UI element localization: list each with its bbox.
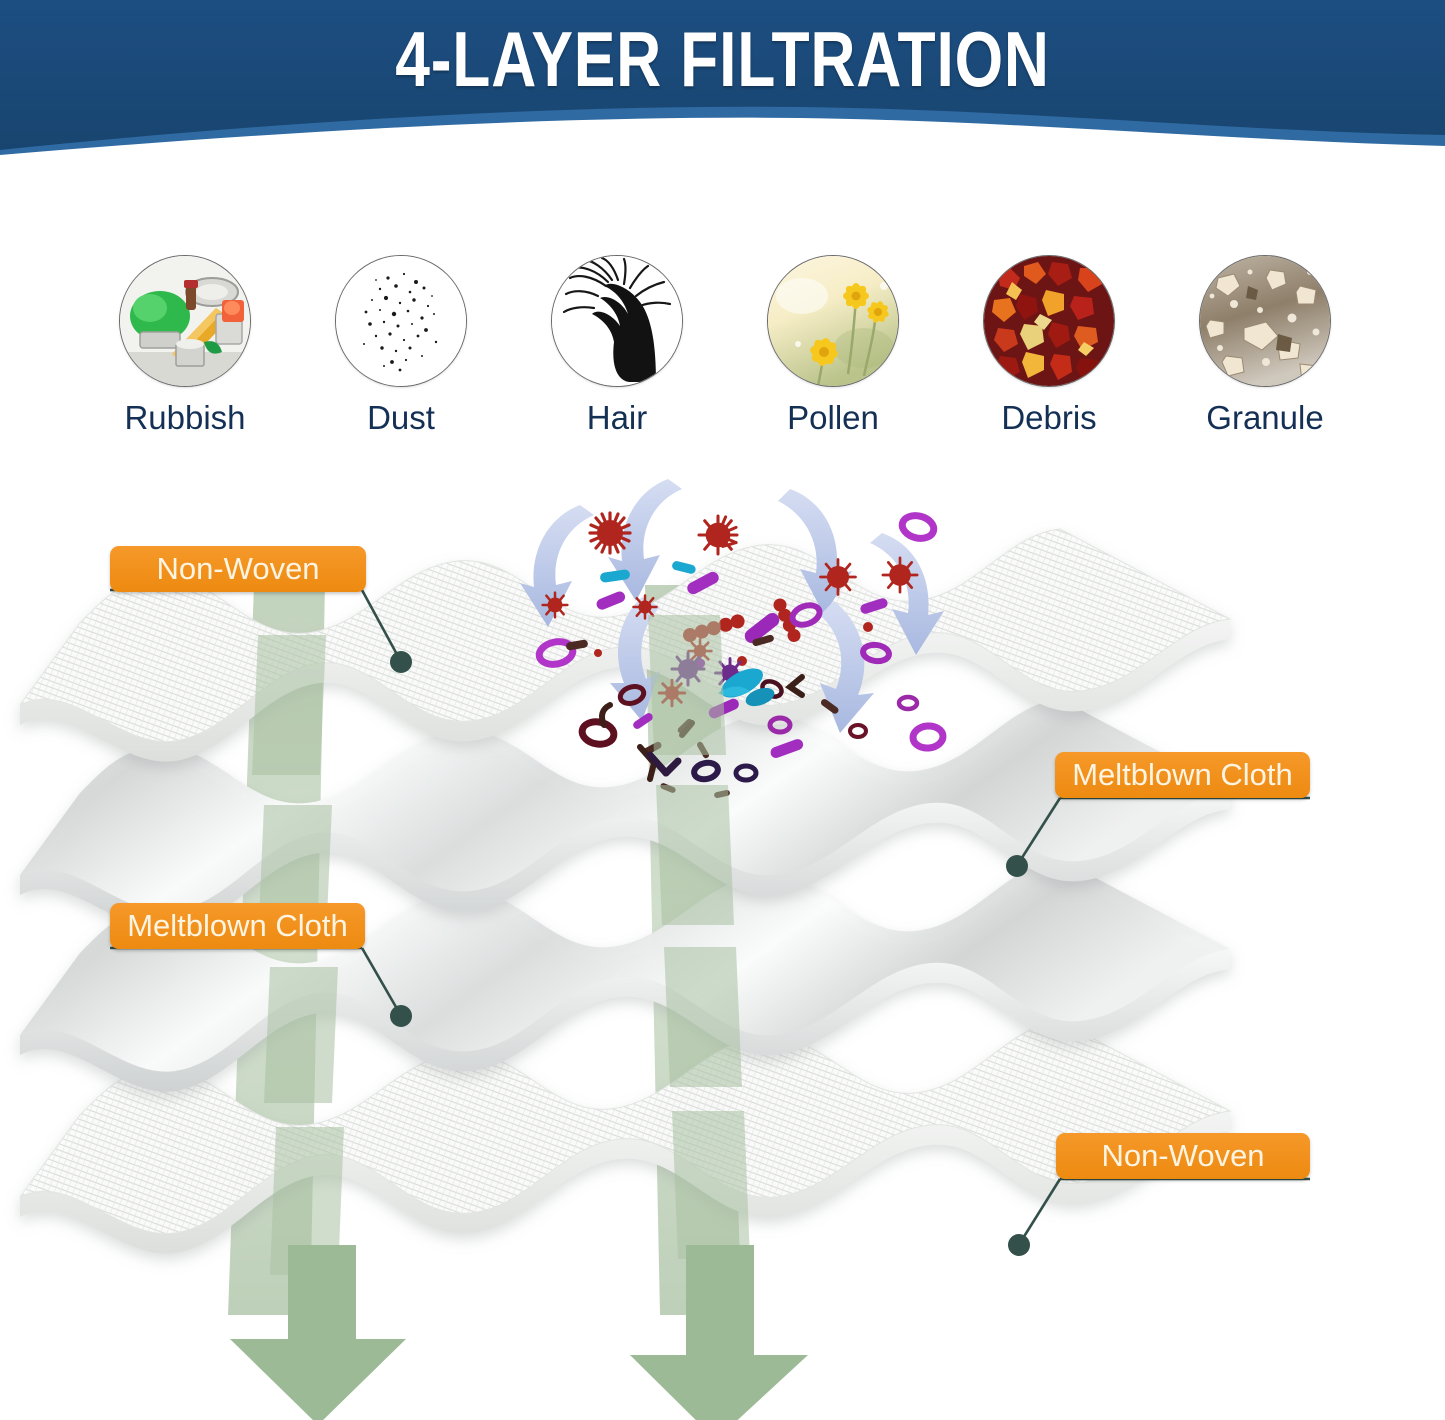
layer-label-text: Meltblown Cloth xyxy=(127,908,348,944)
contaminant-item-dust: Dust xyxy=(326,255,476,437)
debris-icon xyxy=(983,255,1115,387)
header-banner: 4-LAYER FILTRATION xyxy=(0,0,1445,170)
leader-dot-bottom-right xyxy=(1008,1234,1030,1256)
leader-dot-top-left xyxy=(390,651,412,673)
contaminant-list: Rubbish xyxy=(110,255,1340,450)
contaminant-label: Pollen xyxy=(787,399,879,437)
layer-label-nonwoven-top[interactable]: Non-Woven xyxy=(110,546,366,592)
leader-dot-middle-left xyxy=(390,1005,412,1027)
filtered-air-arrows xyxy=(230,1245,808,1420)
contaminant-item-granule: Granule xyxy=(1190,255,1340,437)
layer-label-text: Non-Woven xyxy=(1101,1138,1264,1174)
contaminant-item-rubbish: Rubbish xyxy=(110,255,260,437)
dust-icon xyxy=(335,255,467,387)
contaminant-item-hair: Hair xyxy=(542,255,692,437)
layer-label-text: Non-Woven xyxy=(156,551,319,587)
contaminant-item-pollen: Pollen xyxy=(758,255,908,437)
layer-label-meltblown-left[interactable]: Meltblown Cloth xyxy=(110,903,365,949)
contaminant-label: Granule xyxy=(1206,399,1323,437)
pollen-icon xyxy=(767,255,899,387)
hair-icon xyxy=(551,255,683,387)
layer-label-text: Meltblown Cloth xyxy=(1072,757,1293,793)
contaminant-label: Debris xyxy=(1001,399,1096,437)
granule-icon xyxy=(1199,255,1331,387)
contaminant-label: Rubbish xyxy=(124,399,245,437)
contaminant-label: Dust xyxy=(367,399,435,437)
page-title: 4-LAYER FILTRATION xyxy=(145,14,1301,105)
layer-label-nonwoven-bottom[interactable]: Non-Woven xyxy=(1056,1133,1310,1179)
filtered-air-arrow-right xyxy=(630,1245,808,1420)
layer-label-meltblown-right[interactable]: Meltblown Cloth xyxy=(1055,752,1310,798)
leader-dot-middle-right xyxy=(1006,855,1028,877)
contaminant-item-debris: Debris xyxy=(974,255,1124,437)
rubbish-icon xyxy=(119,255,251,387)
contaminant-label: Hair xyxy=(587,399,648,437)
